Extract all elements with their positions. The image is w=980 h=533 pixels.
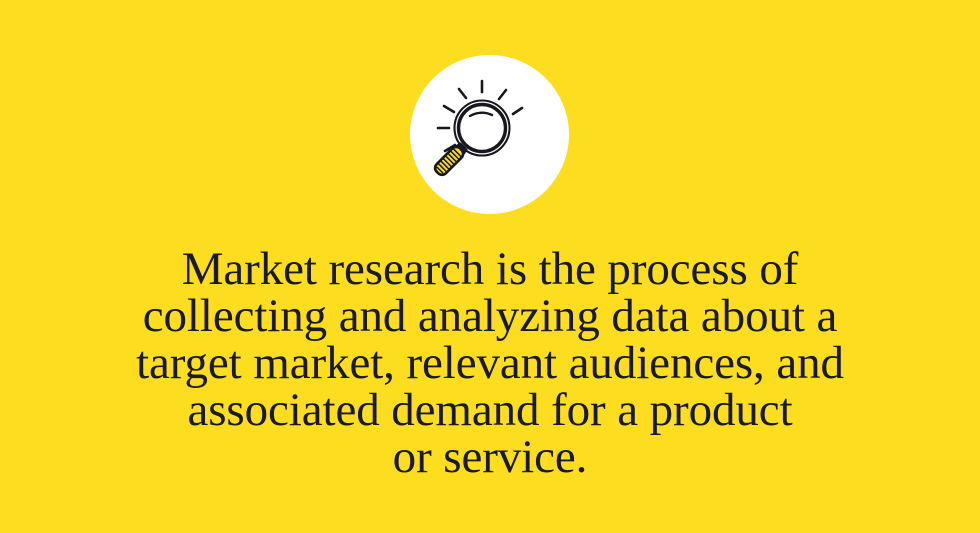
market-research-card: Market research is the process of collec… [0, 0, 980, 533]
quote-text-block: Market research is the process of collec… [0, 246, 980, 481]
quote-line-1: Market research is the process of [0, 246, 980, 293]
quote-line-3: target market, relevant audiences, and [0, 340, 980, 387]
ray-top-right [499, 90, 506, 99]
ray-right-upper [513, 108, 522, 114]
icon-badge-circle [410, 55, 569, 214]
quote-line-5: or service. [0, 434, 980, 481]
quote-line-2: collecting and analyzing data about a [0, 293, 980, 340]
quote-line-4: associated demand for a product [0, 387, 980, 434]
ray-top-left [459, 89, 466, 98]
ray-left-upper [444, 106, 454, 112]
magnifying-glass-icon [430, 75, 550, 195]
